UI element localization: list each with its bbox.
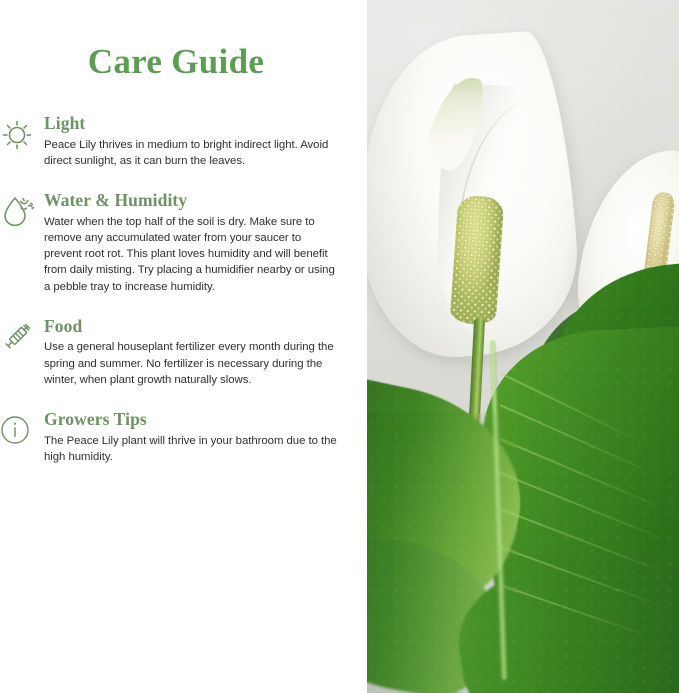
sun-icon bbox=[0, 115, 41, 155]
section-body-growers-tips: The Peace Lily plant will thrive in your… bbox=[44, 433, 339, 465]
care-sections-list: Light Peace Lily thrives in medium to br… bbox=[0, 113, 367, 486]
syringe-icon bbox=[0, 318, 41, 358]
section-body-water-humidity: Water when the top half of the soil is d… bbox=[44, 214, 339, 295]
care-guide-text-panel: Care Guide Lig bbox=[0, 0, 367, 693]
water-drop-icon bbox=[0, 192, 41, 232]
peace-lily-photo bbox=[367, 0, 679, 693]
care-section-food: Food Use a general houseplant fertilizer… bbox=[0, 316, 367, 388]
section-body-food: Use a general houseplant fertilizer ever… bbox=[44, 339, 339, 388]
care-section-growers-tips: Growers Tips The Peace Lily plant will t… bbox=[0, 409, 367, 465]
care-guide-page: Care Guide Lig bbox=[0, 0, 679, 693]
info-circle-icon bbox=[0, 411, 41, 451]
section-heading-light: Light bbox=[44, 113, 339, 134]
section-heading-growers-tips: Growers Tips bbox=[44, 409, 339, 430]
spadix-texture-secondary bbox=[450, 195, 505, 326]
section-heading-water-humidity: Water & Humidity bbox=[44, 190, 339, 211]
care-section-water-humidity: Water & Humidity Water when the top half… bbox=[0, 190, 367, 295]
section-body-light: Peace Lily thrives in medium to bright i… bbox=[44, 137, 339, 169]
photo-backdrop bbox=[367, 0, 679, 693]
photo-depth-blur bbox=[367, 413, 517, 693]
section-heading-food: Food bbox=[44, 316, 339, 337]
care-section-light: Light Peace Lily thrives in medium to br… bbox=[0, 113, 367, 169]
flower-spadix bbox=[450, 195, 505, 326]
page-title: Care Guide bbox=[0, 44, 352, 79]
